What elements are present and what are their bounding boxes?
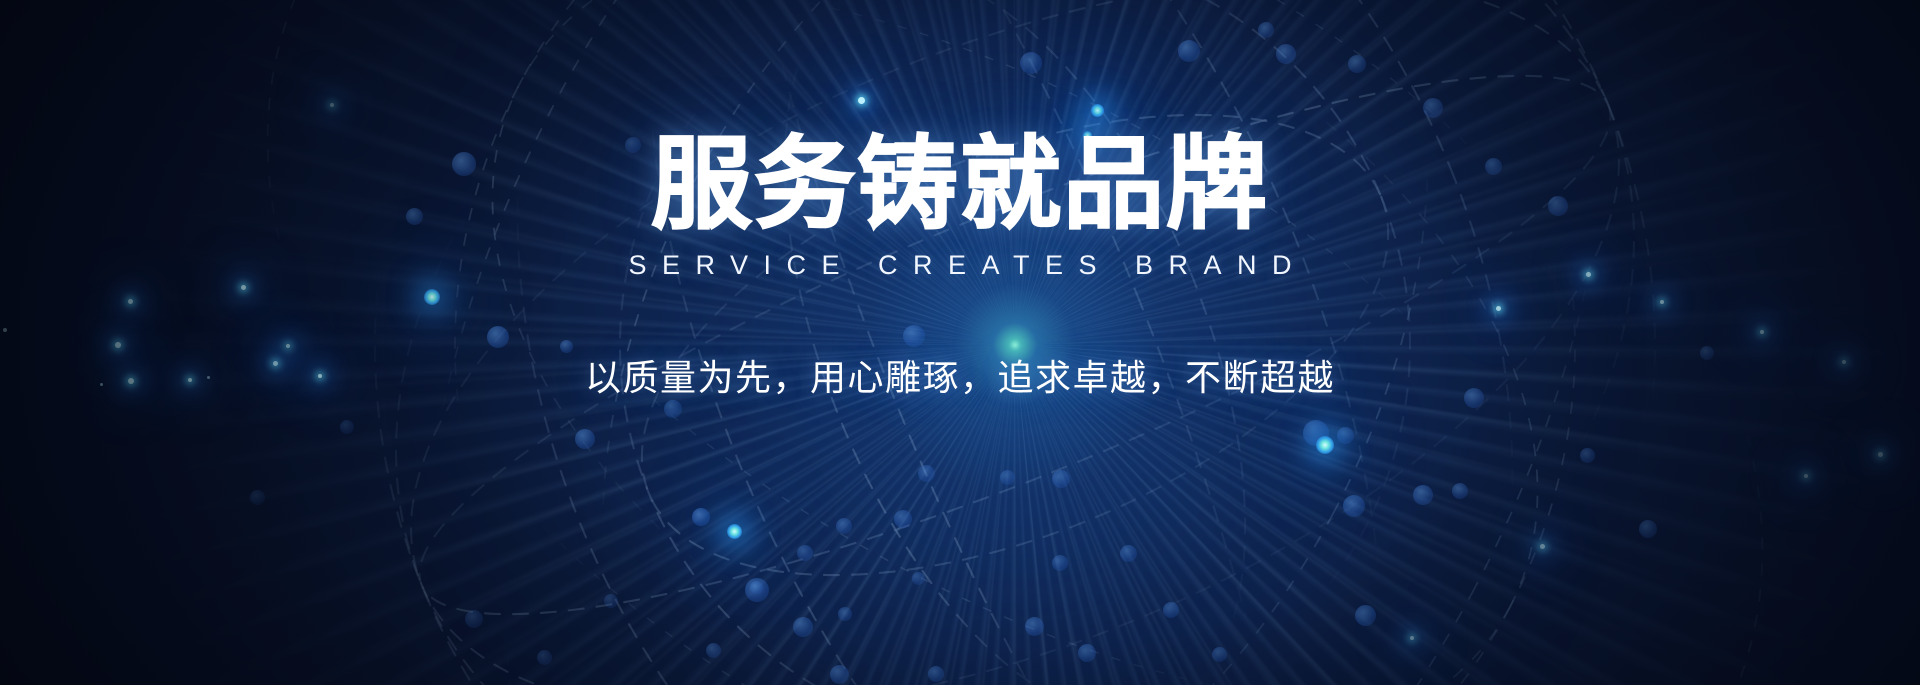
banner-content: 服务铸就品牌 SERVICE CREATES BRAND 以质量为先，用心雕琢，…: [0, 0, 1920, 685]
hero-banner: 服务铸就品牌 SERVICE CREATES BRAND 以质量为先，用心雕琢，…: [0, 0, 1920, 685]
page-title: 服务铸就品牌: [651, 131, 1269, 240]
tagline-text: 以质量为先，用心雕琢，追求卓越，不断超越: [585, 349, 1335, 401]
subtitle-english: SERVICE CREATES BRAND: [613, 250, 1307, 281]
